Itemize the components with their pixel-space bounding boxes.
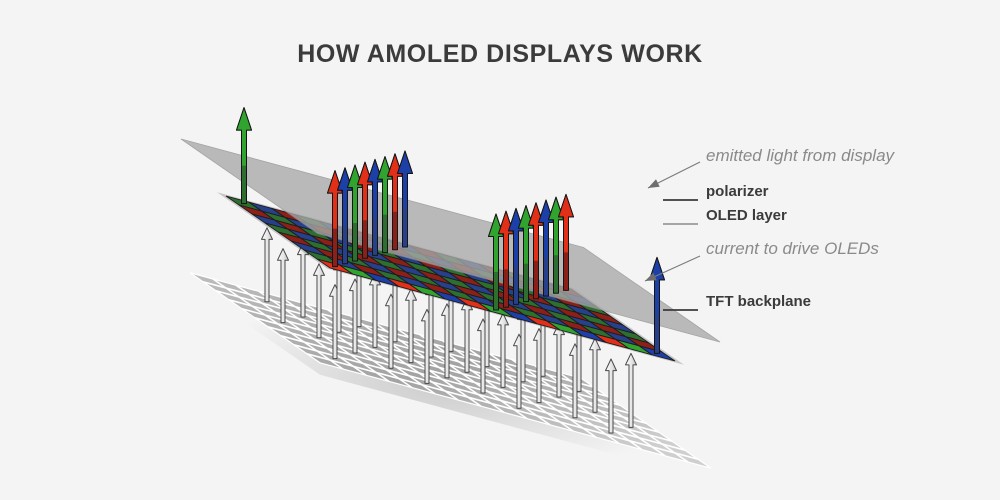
label-emitted-light: emitted light from display bbox=[706, 146, 894, 166]
callout-arrowhead-icon bbox=[648, 179, 660, 188]
diagram-canvas: HOW AMOLED DISPLAYS WORK emitted li bbox=[0, 0, 1000, 500]
current-arrow bbox=[262, 228, 273, 302]
label-tft-backplane: TFT backplane bbox=[706, 293, 811, 310]
label-polarizer: polarizer bbox=[706, 183, 769, 200]
tft-gridline bbox=[268, 327, 659, 432]
callout-leaders-group bbox=[645, 162, 700, 310]
label-oled-layer: OLED layer bbox=[706, 207, 787, 224]
label-current-to-drive-oleds: current to drive OLEDs bbox=[706, 239, 879, 259]
page-title: HOW AMOLED DISPLAYS WORK bbox=[0, 40, 1000, 69]
